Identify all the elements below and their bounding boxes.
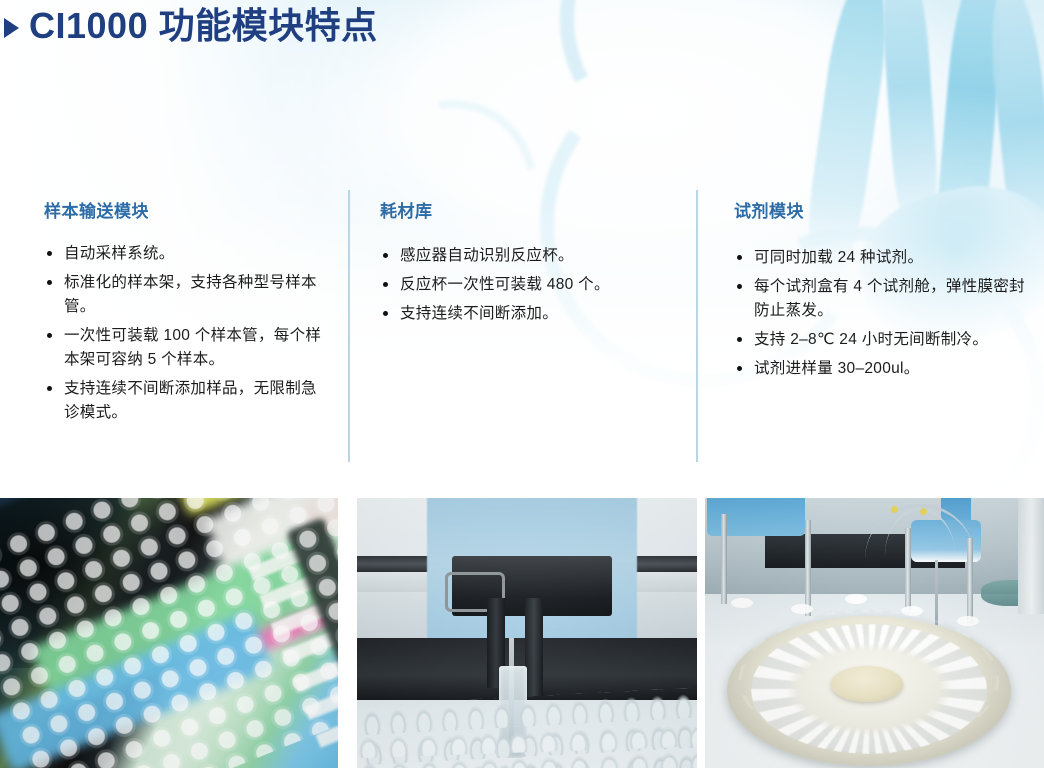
page-title: CI1000 功能模块特点 [4,6,378,46]
list-item: 一次性可装载 100 个样本管，每个样本架可容纳 5 个样本。 [44,324,324,372]
column-bullet-list: 自动采样系统。 标准化的样本架，支持各种型号样本管。 一次性可装载 100 个样… [44,242,324,425]
dna-helix-arc-icon [524,0,874,194]
sample-tubes-rack-photo [0,498,338,768]
column-title: 样本输送模块 [44,202,324,222]
list-item: 可同时加载 24 种试剂。 [734,246,1026,270]
list-item: 每个试剂盒有 4 个试剂舱，弹性膜密封防止蒸发。 [734,275,1026,323]
list-item: 自动采样系统。 [44,242,324,266]
pipettor-gripper-arm-photo [357,498,697,768]
list-item: 感应器自动识别反应杯。 [380,244,676,268]
list-item: 标准化的样本架，支持各种型号样本管。 [44,271,324,319]
feature-column-reagent: 试剂模块 可同时加载 24 种试剂。 每个试剂盒有 4 个试剂舱，弹性膜密封防止… [696,190,1044,462]
column-bullet-list: 可同时加载 24 种试剂。 每个试剂盒有 4 个试剂舱，弹性膜密封防止蒸发。 支… [734,246,1026,381]
triangle-right-icon [4,18,19,38]
photo-vignette [357,498,697,768]
photo-vignette [0,498,338,768]
column-bullet-list: 感应器自动识别反应杯。 反应杯一次性可装载 480 个。 支持连续不间断添加。 [380,244,676,326]
list-item: 试剂进样量 30–200ul。 [734,357,1026,381]
photo-vignette [705,498,1044,768]
feature-columns: 样本输送模块 自动采样系统。 标准化的样本架，支持各种型号样本管。 一次性可装载… [0,190,1044,462]
page-title-text: CI1000 功能模块特点 [29,6,378,46]
column-title: 试剂模块 [734,202,1026,222]
feature-column-sample-transport: 样本输送模块 自动采样系统。 标准化的样本架，支持各种型号样本管。 一次性可装载… [0,190,348,462]
list-item: 支持连续不间断添加。 [380,302,676,326]
list-item: 支持 2–8℃ 24 小时无间断制冷。 [734,328,1026,352]
column-title: 耗材库 [380,202,676,222]
feature-column-consumables: 耗材库 感应器自动识别反应杯。 反应杯一次性可装载 480 个。 支持连续不间断… [348,190,696,462]
reagent-carousel-photo [705,498,1044,768]
photo-strip [0,498,1044,768]
list-item: 支持连续不间断添加样品，无限制急诊模式。 [44,377,324,425]
list-item: 反应杯一次性可装载 480 个。 [380,273,676,297]
slide-page: CI1000 功能模块特点 样本输送模块 自动采样系统。 标准化的样本架，支持各… [0,0,1044,768]
